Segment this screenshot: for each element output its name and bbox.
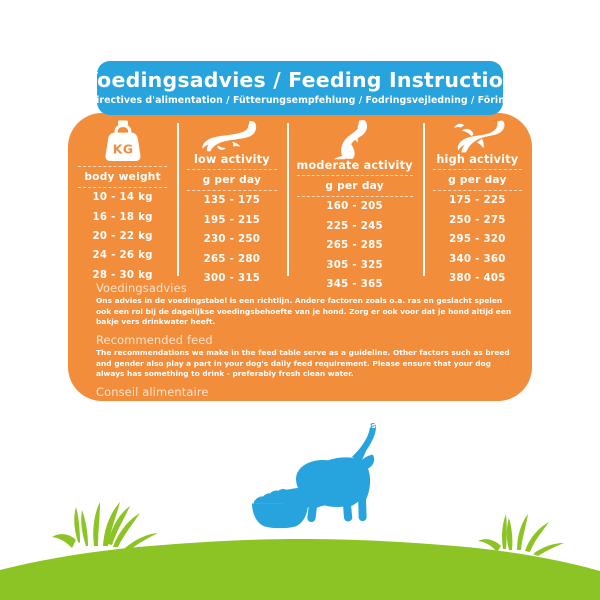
- table-cell: 230 - 250: [204, 230, 261, 249]
- table-cell: 24 - 26 kg: [92, 246, 152, 265]
- dog-sitting-icon: [333, 120, 377, 160]
- column-header-3: high activity: [436, 154, 518, 169]
- page-title: Voedingsadvies / Feeding Instruction: [82, 70, 518, 92]
- column-header-2: moderate activity: [297, 160, 413, 175]
- note-title: Conseil alimentaire: [96, 385, 516, 399]
- weight-kg-icon: KG: [104, 120, 142, 162]
- table-cell: 20 - 22 kg: [92, 227, 152, 246]
- table-cell: 195 - 215: [204, 211, 261, 230]
- table-cell: 10 - 14 kg: [92, 188, 152, 207]
- note-title: Recommended feed: [96, 333, 516, 347]
- note-block-french: Conseil alimentaire Les recommandations …: [96, 385, 516, 442]
- column-subheader-1: g per day: [203, 170, 262, 190]
- table-cell: 340 - 360: [449, 249, 506, 268]
- food-bowl: [252, 489, 308, 528]
- table-cell: 265 - 285: [326, 236, 383, 255]
- table-cell: 265 - 280: [204, 249, 261, 268]
- table-cell: 175 - 225: [449, 191, 506, 210]
- note-block-dutch: Voedingsadvies Ons advies in de voedings…: [96, 281, 516, 328]
- table-cell: 295 - 320: [449, 230, 506, 249]
- note-body: Les recommandations dans le tableau d'al…: [96, 400, 516, 442]
- table-cell: 135 - 175: [204, 191, 261, 210]
- page-subtitle: Directives d'alimentation / Fütterungsem…: [88, 95, 511, 106]
- notes-section: Voedingsadvies Ons advies in de voedings…: [96, 281, 516, 447]
- table-column-low-activity: low activity g per day 135 - 175 195 - 2…: [177, 118, 286, 278]
- table-column-high-activity: high activity g per day 175 - 225 250 - …: [423, 118, 532, 278]
- grass-tuft-left: [52, 502, 158, 550]
- table-cell: 16 - 18 kg: [92, 207, 152, 226]
- table-column-moderate-activity: moderate activity g per day 160 - 205 22…: [287, 118, 423, 278]
- table-cell: 305 - 325: [326, 255, 383, 274]
- column-header-1: low activity: [194, 154, 270, 169]
- dog-running-icon: [448, 120, 506, 154]
- header-banner: Voedingsadvies / Feeding Instruction Dir…: [97, 61, 503, 115]
- note-title: Voedingsadvies: [96, 281, 516, 295]
- feeding-table: KG body weight 10 - 14 kg 16 - 18 kg 20 …: [68, 118, 532, 278]
- column-subheader-3: g per day: [448, 170, 507, 190]
- note-block-english: Recommended feed The recommendations we …: [96, 333, 516, 380]
- table-column-body-weight: KG body weight 10 - 14 kg 16 - 18 kg 20 …: [68, 118, 177, 278]
- column-subheader-0: body weight: [84, 167, 161, 187]
- table-cell: 225 - 245: [326, 217, 383, 236]
- column-subheader-2: g per day: [325, 176, 384, 196]
- dog-lying-icon: [202, 120, 262, 154]
- scene-illustration: [0, 420, 600, 600]
- note-body: The recommendations we make in the feed …: [96, 348, 516, 380]
- table-cell: 160 - 205: [326, 197, 383, 216]
- weight-icon-label: KG: [112, 142, 133, 157]
- table-cell: 250 - 275: [449, 211, 506, 230]
- note-body: Ons advies in de voedingstabel is een ri…: [96, 296, 516, 328]
